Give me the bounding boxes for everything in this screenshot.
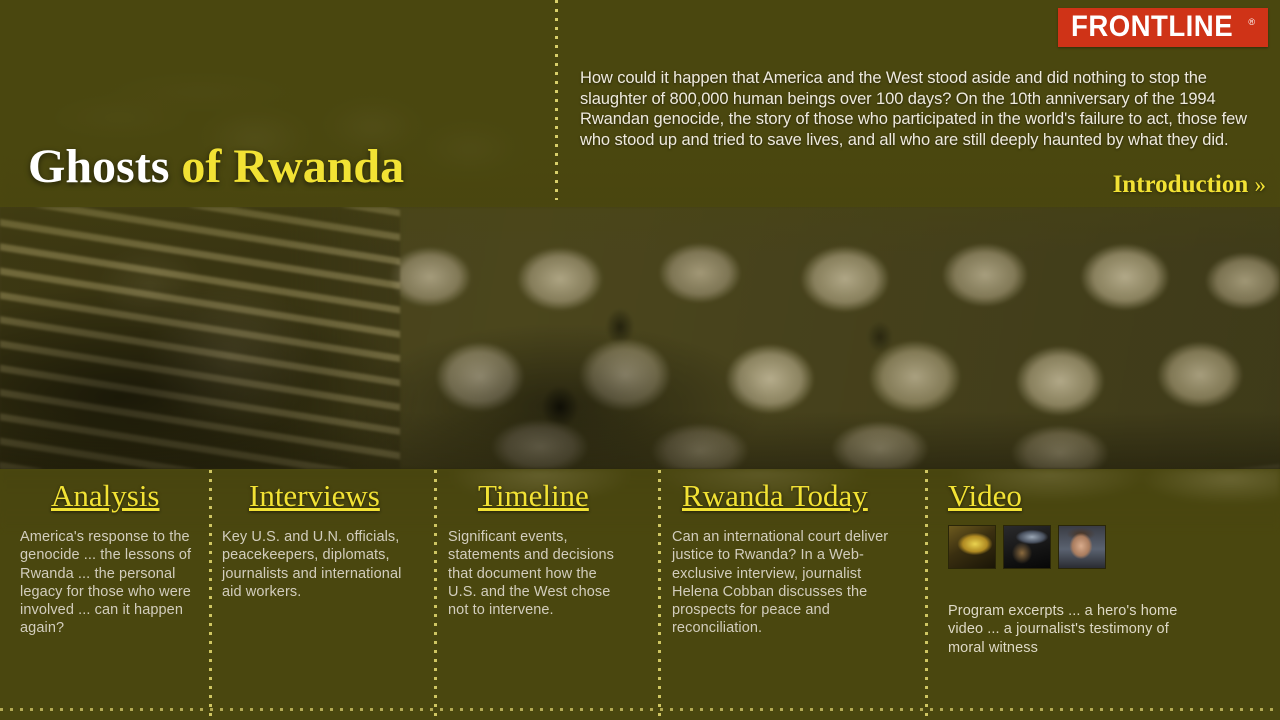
video-thumbnail-machete[interactable] [948, 525, 996, 569]
column-divider-4 [925, 470, 928, 720]
page-title: Ghosts of Rwanda [28, 143, 404, 191]
nav-link-video[interactable]: Video [948, 480, 1022, 511]
nav-link-timeline[interactable]: Timeline [478, 480, 589, 511]
page-title-ghosts: Ghosts [28, 140, 169, 193]
nav-link-interviews[interactable]: Interviews [249, 480, 380, 511]
hero-photo-skulls [0, 207, 1280, 469]
nav-column-analysis[interactable]: Analysis America's response to the genoc… [20, 470, 202, 720]
nav-description-interviews: Key U.S. and U.N. officials, peacekeeper… [222, 528, 414, 601]
column-divider-1 [209, 470, 212, 720]
header-banner: FRONTLINE® Ghosts of Rwanda How could it… [0, 0, 1280, 207]
column-divider-2 [434, 470, 437, 720]
column-divider-3 [658, 470, 661, 720]
nav-description-timeline: Significant events, statements and decis… [448, 528, 628, 619]
header-vertical-dotted-divider [555, 0, 558, 200]
video-thumbnail-portrait[interactable] [1058, 525, 1106, 569]
registered-trademark-icon: ® [1248, 18, 1255, 27]
nav-column-timeline[interactable]: Timeline Significant events, statements … [448, 470, 644, 720]
nav-description-rwanda-today: Can an international court deliver justi… [672, 528, 910, 638]
video-thumbnail-soldier[interactable] [1003, 525, 1051, 569]
page-title-of-rwanda: of Rwanda [181, 140, 404, 193]
nav-link-analysis[interactable]: Analysis [51, 480, 160, 511]
frontline-logo[interactable]: FRONTLINE® [1058, 8, 1268, 47]
video-thumbnail-strip[interactable] [948, 525, 1106, 569]
nav-description-analysis: America's response to the genocide ... t… [20, 528, 192, 638]
intro-paragraph: How could it happen that America and the… [580, 68, 1252, 150]
nav-column-video[interactable]: Video Program excerpts ... a hero's home… [948, 470, 1198, 720]
nav-link-rwanda-today[interactable]: Rwanda Today [682, 480, 868, 511]
hero-photo-vignette [0, 207, 1280, 469]
nav-column-rwanda-today[interactable]: Rwanda Today Can an international court … [672, 470, 912, 720]
introduction-link[interactable]: Introduction » [1113, 172, 1266, 197]
page-root: FRONTLINE® Ghosts of Rwanda How could it… [0, 0, 1280, 720]
nav-column-interviews[interactable]: Interviews Key U.S. and U.N. officials, … [222, 470, 422, 720]
frontline-logo-text: FRONTLINE [1071, 12, 1233, 42]
bottom-dotted-rule [0, 708, 1280, 711]
nav-description-video: Program excerpts ... a hero's home video… [948, 602, 1192, 657]
introduction-link-label: Introduction [1113, 171, 1249, 198]
double-chevron-right-icon: » [1255, 172, 1267, 197]
